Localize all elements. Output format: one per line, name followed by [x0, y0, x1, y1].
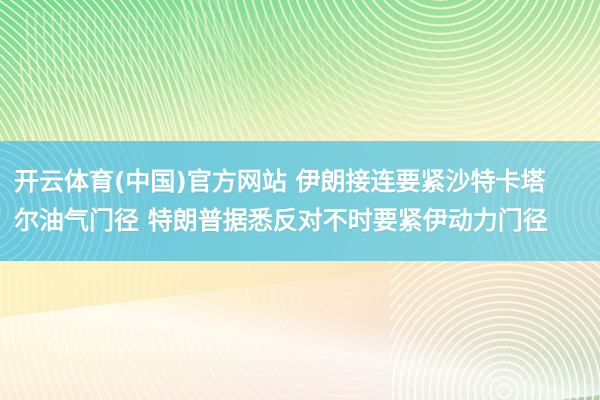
bottom-light-sweep	[0, 261, 600, 400]
bottom-gradient-panel	[0, 261, 600, 400]
headline-line-2: 尔油气门径 特朗普据悉反对不时要紧伊动力门径	[14, 201, 548, 240]
arc-lines-top-left-icon	[0, 0, 261, 141]
bottom-left-warm-wash	[0, 261, 360, 400]
headline-block: 开云体育(中国)官方网站 伊朗接连要紧沙特卡塔 尔油气门径 特朗普据悉反对不时要…	[0, 141, 600, 261]
headline-line-1: 开云体育(中国)官方网站 伊朗接连要紧沙特卡塔	[14, 162, 546, 201]
arc-lines-top-right-icon	[180, 0, 600, 141]
arc-lines-bottom-right-icon	[390, 261, 600, 400]
arc-lines-bottom-icon	[0, 261, 600, 400]
arc-lines-top-bottom-icon	[20, 11, 600, 141]
top-gradient-panel	[0, 0, 600, 141]
bottom-right-green-wash	[350, 261, 600, 400]
promo-banner: 开云体育(中国)官方网站 伊朗接连要紧沙特卡塔 尔油气门径 特朗普据悉反对不时要…	[0, 0, 600, 400]
